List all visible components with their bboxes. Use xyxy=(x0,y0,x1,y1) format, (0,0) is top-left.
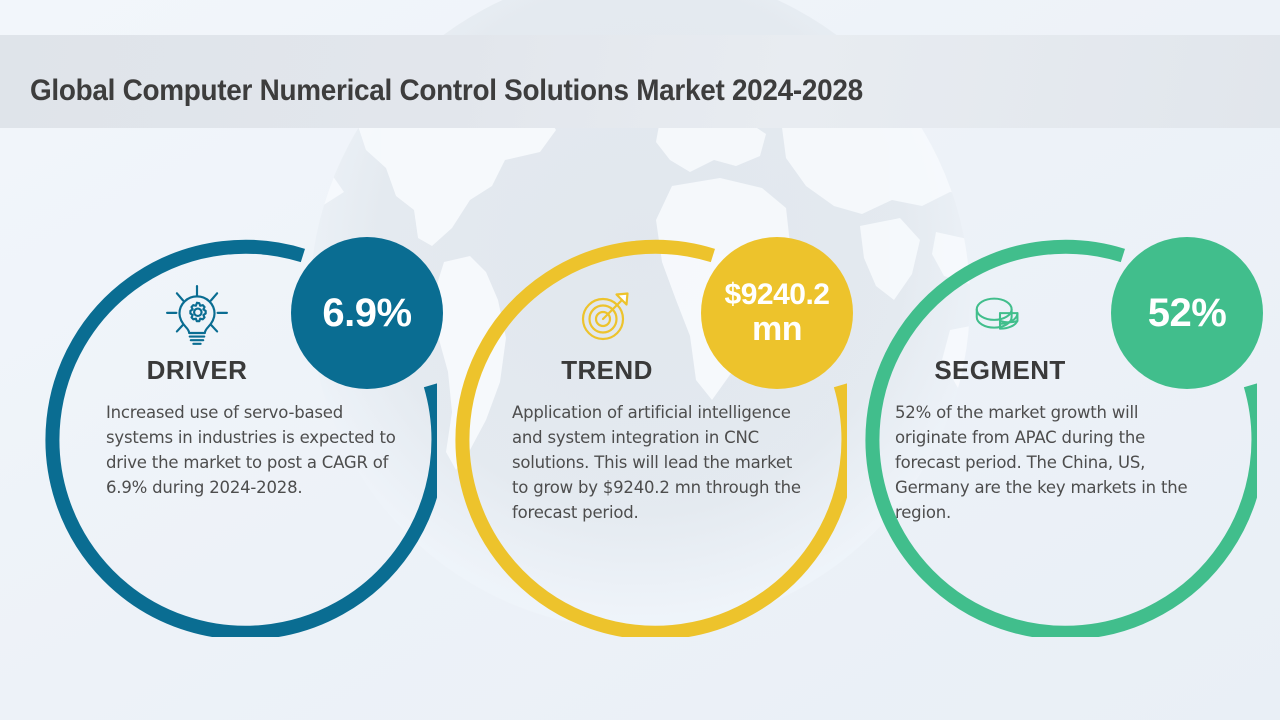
card-body-driver: Increased use of servo-based systems in … xyxy=(106,400,398,500)
card-body-trend: Application of artificial intelligence a… xyxy=(512,400,804,525)
card-trend: TREND $9240.2 mn Application of artifici… xyxy=(447,237,847,637)
card-driver: DRIVER 6.9% Increased use of servo-based… xyxy=(37,237,437,637)
lightbulb-gear-icon xyxy=(164,284,230,350)
card-body-segment: 52% of the market growth will originate … xyxy=(895,400,1195,525)
infographic-canvas: Global Computer Numerical Control Soluti… xyxy=(0,0,1280,720)
badge-trend: $9240.2 mn xyxy=(701,237,853,389)
badge-value-segment: 52% xyxy=(1148,293,1227,333)
badge-value-driver: 6.9% xyxy=(322,293,411,333)
target-arrow-icon xyxy=(575,285,639,349)
pie-chart-icon xyxy=(969,286,1031,348)
badge-driver: 6.9% xyxy=(291,237,443,389)
badge-segment: 52% xyxy=(1111,237,1263,389)
badge-unit-trend: mn xyxy=(752,312,802,346)
card-segment: SEGMENT 52% 52% of the market growth wil… xyxy=(857,237,1257,637)
card-heading-segment: SEGMENT xyxy=(840,355,1160,386)
badge-value-trend: $9240.2 xyxy=(725,280,830,310)
page-title: Global Computer Numerical Control Soluti… xyxy=(30,74,863,108)
